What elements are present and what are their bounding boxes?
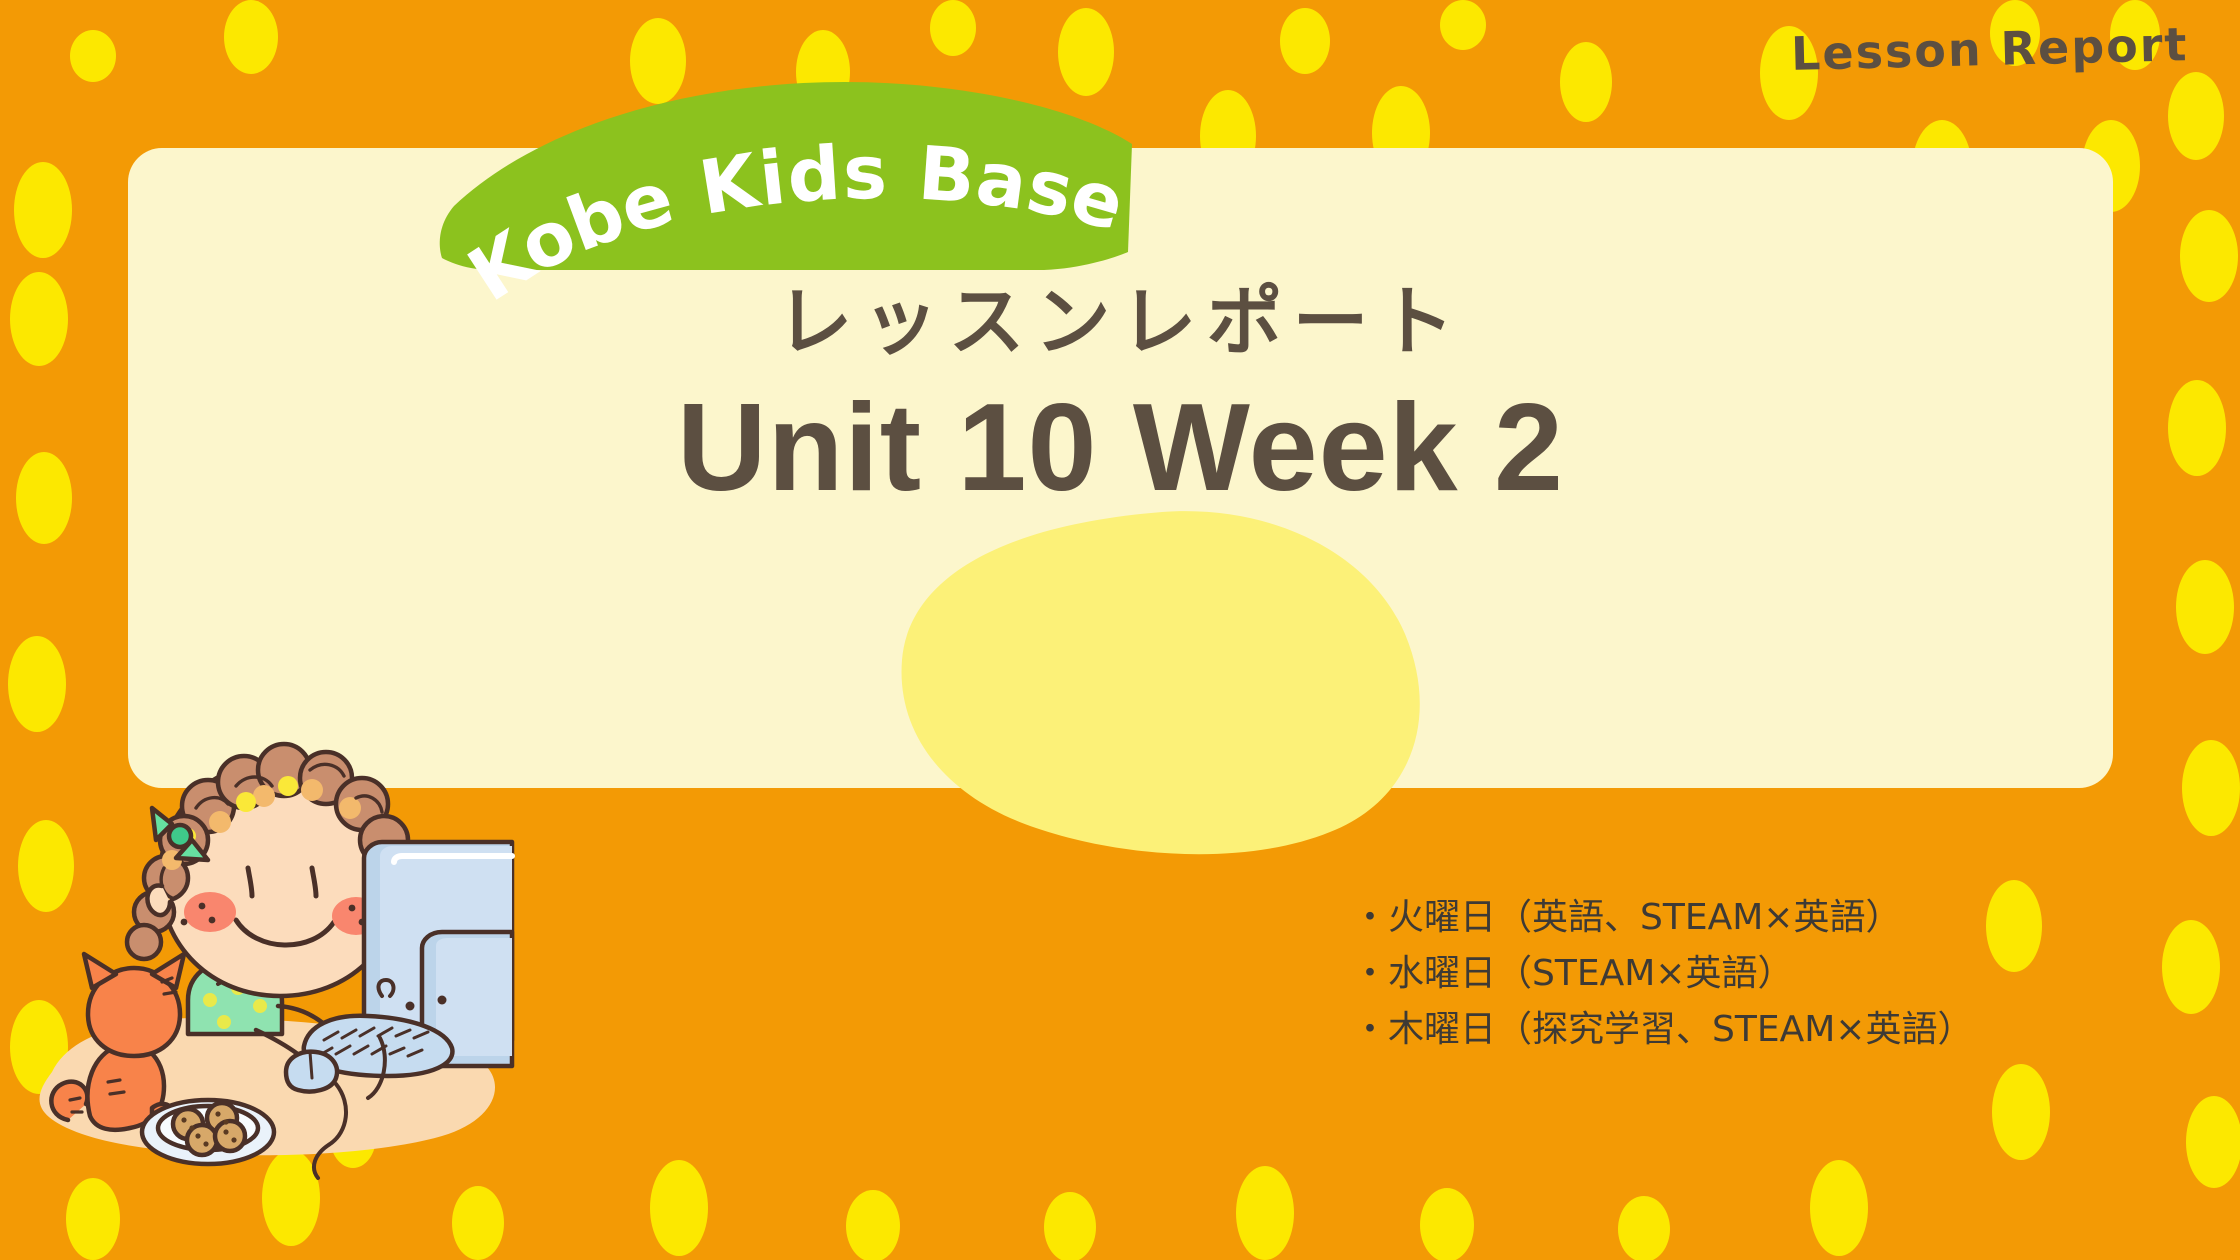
background-dot xyxy=(930,0,976,56)
subtitle-japanese: レッスンレポート xyxy=(128,278,2113,365)
background-dot xyxy=(14,162,72,258)
background-dot xyxy=(10,272,68,366)
background-dot xyxy=(2162,920,2220,1014)
background-dot xyxy=(1986,880,2042,972)
background-dot xyxy=(66,1178,120,1260)
background-dot xyxy=(1280,8,1330,74)
background-dot xyxy=(1440,0,1486,50)
background-dot xyxy=(1810,1160,1868,1256)
background-dot xyxy=(846,1190,900,1260)
schedule-item: ・木曜日（探究学習、STEAM×英語） xyxy=(1352,1002,1973,1058)
background-dot xyxy=(2180,210,2238,302)
background-dot xyxy=(70,30,116,82)
page-title: Unit 10 Week 2 xyxy=(128,379,2113,518)
background-dot xyxy=(2176,560,2234,654)
schedule-item: ・火曜日（英語、STEAM×英語） xyxy=(1352,890,1973,946)
headings-block: レッスンレポート Unit 10 Week 2 xyxy=(128,278,2113,518)
background-dot xyxy=(1992,1064,2050,1160)
background-dot xyxy=(1618,1196,1670,1260)
yellow-accent-blob xyxy=(900,510,1420,840)
lesson-report-label: Lesson Report xyxy=(1790,17,2189,81)
background-dot xyxy=(224,0,278,74)
background-dot xyxy=(2168,380,2226,476)
brand-banner: Kobe Kids Base xyxy=(432,82,1132,272)
background-dot xyxy=(2168,72,2224,160)
schedule-item: ・水曜日（STEAM×英語） xyxy=(1352,946,1973,1002)
background-dot xyxy=(452,1186,504,1260)
background-dot xyxy=(2182,740,2240,836)
background-dot xyxy=(1044,1192,1096,1260)
girl-at-computer-illustration xyxy=(12,700,512,1190)
background-dot xyxy=(16,452,72,544)
background-dot xyxy=(1560,42,1612,122)
schedule-list: ・火曜日（英語、STEAM×英語）・水曜日（STEAM×英語）・木曜日（探究学習… xyxy=(1352,890,1973,1058)
background-dot xyxy=(2186,1096,2240,1188)
background-dot xyxy=(1236,1166,1294,1260)
background-dot xyxy=(650,1160,708,1256)
background-dot xyxy=(1420,1188,1474,1260)
